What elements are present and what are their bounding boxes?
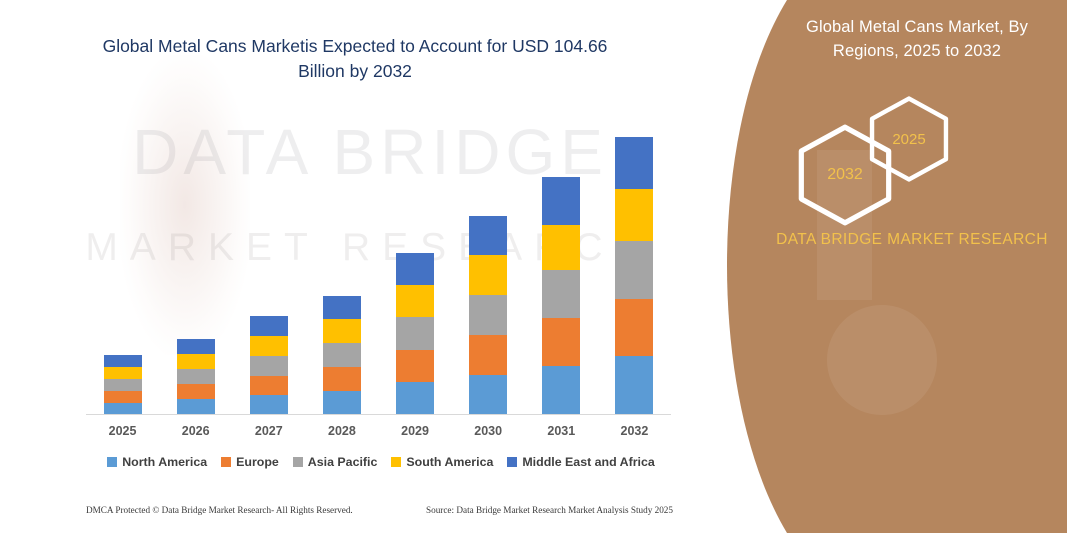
chart-title: Global Metal Cans Marketis Expected to A… [95,34,615,85]
bar-segment [177,399,215,415]
bar-column [469,216,507,415]
x-axis-tick-label: 2031 [526,424,596,438]
bar-segment [615,189,653,241]
footer-copyright: DMCA Protected © Data Bridge Market Rese… [86,505,353,515]
legend-item[interactable]: South America [391,455,493,469]
infographic-root: DATA BRIDGE MARKET RESEARCH Global Metal… [0,0,1067,533]
chart-panel: DATA BRIDGE MARKET RESEARCH Global Metal… [0,0,720,533]
bar-column [396,253,434,415]
bar-segment [177,354,215,369]
bar-segment [104,379,142,391]
bar-column [104,355,142,415]
bar-segment [250,356,288,376]
legend-label: Europe [236,455,279,469]
x-axis-tick-label: 2032 [599,424,669,438]
bar-segment [250,336,288,356]
bar-segment [250,395,288,415]
x-axis-tick-label: 2027 [234,424,304,438]
legend-label: Asia Pacific [308,455,378,469]
x-axis-tick-label: 2028 [307,424,377,438]
footer: DMCA Protected © Data Bridge Market Rese… [86,505,676,521]
x-axis-tick-label: 2029 [380,424,450,438]
legend-item[interactable]: Europe [221,455,279,469]
footer-source: Source: Data Bridge Market Research Mark… [426,505,673,515]
legend-item[interactable]: Middle East and Africa [507,455,654,469]
bar-segment [615,137,653,189]
chart-legend: North AmericaEuropeAsia PacificSouth Ame… [86,455,676,469]
bar-segment [396,382,434,415]
bar-segment [469,295,507,335]
x-axis-tick-label: 2026 [161,424,231,438]
legend-swatch-icon [391,457,401,467]
legend-swatch-icon [107,457,117,467]
bar-segment [469,216,507,255]
bar-segment [396,285,434,317]
legend-item[interactable]: Asia Pacific [293,455,378,469]
bar-segment [177,369,215,384]
bar-segment [323,343,361,367]
bar-segment [469,335,507,375]
bar-segment [396,317,434,350]
bar-segment [104,391,142,403]
hexagon-group: 2032 2025 [787,95,1037,235]
bar-segment [104,367,142,379]
bar-segment [250,316,288,336]
x-axis-line [86,414,671,415]
hexagon-2025: 2025 [865,95,953,183]
hexagon-2025-label: 2025 [892,131,925,148]
bar-column [177,339,215,415]
bar-segment [542,366,580,415]
bar-segment [542,270,580,318]
bar-column [615,137,653,415]
legend-label: Middle East and Africa [522,455,654,469]
bar-plot [86,120,671,415]
panel-brand-text: DATA BRIDGE MARKET RESEARCH [757,228,1067,251]
legend-swatch-icon [507,457,517,467]
bar-column [250,316,288,415]
bar-segment [250,376,288,395]
bar-column [542,177,580,415]
bar-segment [615,299,653,356]
bar-segment [615,356,653,415]
bar-segment [542,318,580,366]
x-axis-tick-label: 2030 [453,424,523,438]
legend-swatch-icon [293,457,303,467]
bar-column [323,296,361,415]
panel-background-shape [667,0,1067,533]
bar-segment [323,367,361,391]
bar-segment [396,253,434,285]
bar-segment [323,296,361,319]
right-panel: Global Metal Cans Market, By Regions, 20… [667,0,1067,533]
legend-label: South America [406,455,493,469]
x-axis-labels: 20252026202720282029203020312032 [86,424,671,446]
bar-segment [615,241,653,299]
bar-segment [469,375,507,415]
legend-swatch-icon [221,457,231,467]
bar-segment [469,255,507,295]
bar-segment [542,177,580,225]
bar-segment [542,225,580,270]
bar-segment [177,339,215,354]
x-axis-tick-label: 2025 [88,424,158,438]
panel-title: Global Metal Cans Market, By Regions, 20… [777,16,1057,64]
bar-segment [323,391,361,415]
hexagon-2032-label: 2032 [827,166,863,184]
bar-segment [323,319,361,343]
bar-segment [396,350,434,382]
bar-segment [177,384,215,399]
legend-item[interactable]: North America [107,455,207,469]
bar-segment [104,355,142,367]
legend-label: North America [122,455,207,469]
